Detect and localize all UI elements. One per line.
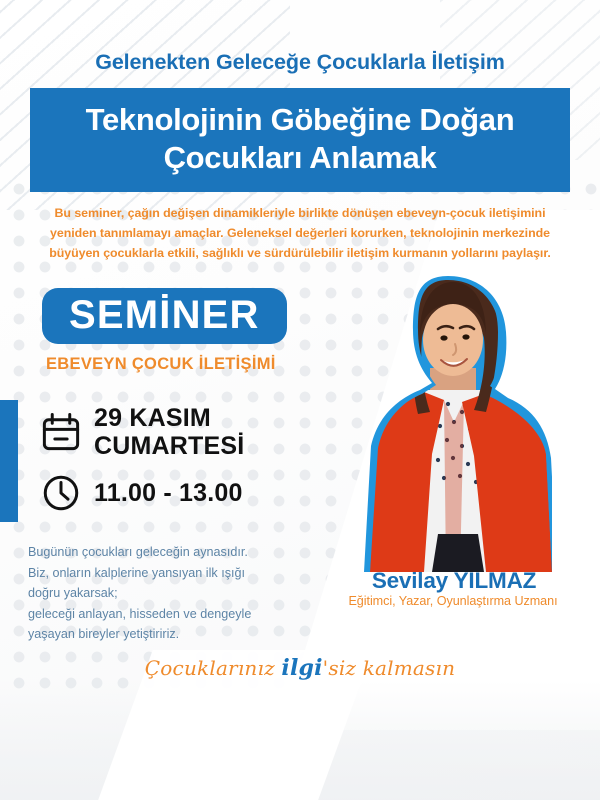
tagline-after: 'siz kalmasın <box>323 656 456 680</box>
seminar-poster: Gelenekten Geleceğe Çocuklarla İletişim … <box>0 0 600 800</box>
speaker-photo <box>352 272 552 572</box>
event-date-line-2: CUMARTESİ <box>94 432 244 460</box>
poster-quote: Bugünün çocukları geleceğin aynasıdır. B… <box>28 542 296 645</box>
quote-line-1: Bugünün çocukları geleceğin aynasıdır. <box>28 542 296 563</box>
left-accent-bar <box>0 400 18 522</box>
tagline-highlight: ilgi <box>281 655 322 681</box>
quote-line-4: geleceği anlayan, hisseden ve dengeyle <box>28 604 296 625</box>
quote-line-5: yaşayan bireyler yetiştiririz. <box>28 624 296 645</box>
event-time-row: 11.00 - 13.00 <box>40 472 243 514</box>
seminar-badge-label: SEMİNER <box>69 293 260 337</box>
clock-icon <box>40 472 82 514</box>
quote-line-2: Biz, onların kalplerine yansıyan ilk ışı… <box>28 563 296 584</box>
poster-kicker: Gelenekten Geleceğe Çocuklarla İletişim <box>0 50 600 75</box>
poster-intro-paragraph: Bu seminer, çağın değişen dinamikleriyle… <box>36 203 564 263</box>
speaker-name: Sevilay YILMAZ <box>320 568 588 594</box>
calendar-icon <box>40 411 82 453</box>
tagline-before: Çocuklarınız <box>145 656 282 680</box>
event-date-line-1: 29 KASIM <box>94 404 211 432</box>
poster-title-band: Teknolojinin Göbeğine Doğan Çocukları An… <box>30 88 570 192</box>
poster-tagline: Çocuklarınız ilgi'siz kalmasın <box>0 655 600 681</box>
seminar-badge-subtitle: EBEVEYN ÇOCUK İLETİŞİMİ <box>46 355 276 374</box>
quote-line-3: doğru yakarsak; <box>28 583 296 604</box>
seminar-badge: SEMİNER <box>42 288 287 344</box>
page-title-line-1: Teknolojinin Göbeğine Doğan <box>40 101 560 139</box>
poster-footer: 0 552 568 51 41 İLGİ AKADEMİ Eğitim Kuru… <box>0 700 600 800</box>
page-title-line-2: Çocukları Anlamak <box>40 139 560 177</box>
event-date-row: 29 KASIM CUMARTESİ <box>40 404 244 460</box>
speaker-role: Eğitimci, Yazar, Oyunlaştırma Uzmanı <box>310 594 596 608</box>
event-time-text: 11.00 - 13.00 <box>94 479 243 507</box>
event-date-text: 29 KASIM CUMARTESİ <box>94 404 244 460</box>
